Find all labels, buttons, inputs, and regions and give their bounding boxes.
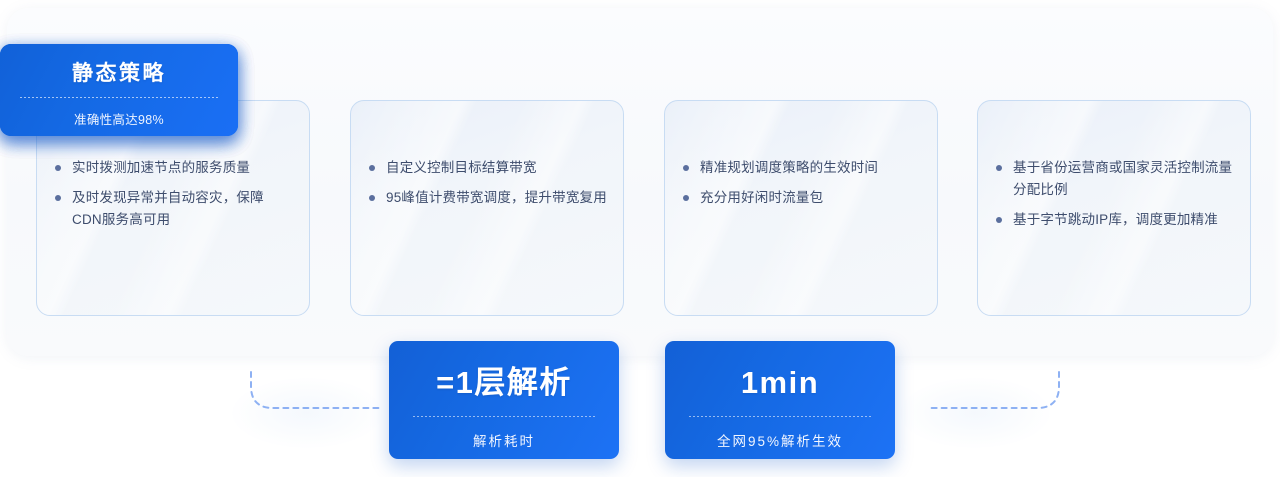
- feature-bullet-list: 精准规划调度策略的生效时间 充分用好闲时流量包: [665, 101, 937, 217]
- metric-badge: 1min 全网95%解析生效: [665, 341, 895, 459]
- bullet-text: 及时发现异常并自动容灾，保障CDN服务高可用: [72, 187, 293, 231]
- bullet-text: 实时拨测加速节点的服务质量: [72, 157, 250, 179]
- bullet-dot-icon: [55, 195, 61, 201]
- bullet-dot-icon: [369, 195, 375, 201]
- list-item: 及时发现异常并自动容灾，保障CDN服务高可用: [55, 187, 293, 231]
- bullet-dot-icon: [996, 217, 1002, 223]
- feature-card: 基于省份运营商或国家灵活控制流量分配比例 基于字节跳动IP库，调度更加精准: [977, 100, 1251, 316]
- bullet-dot-icon: [996, 165, 1002, 171]
- feature-title: 静态策略: [0, 44, 238, 84]
- feature-card: 精准规划调度策略的生效时间 充分用好闲时流量包: [664, 100, 938, 316]
- bullet-dot-icon: [683, 195, 689, 201]
- feature-bullet-list: 自定义控制目标结算带宽 95峰值计费带宽调度，提升带宽复用: [351, 101, 623, 217]
- bullet-text: 基于省份运营商或国家灵活控制流量分配比例: [1013, 157, 1234, 201]
- list-item: 基于省份运营商或国家灵活控制流量分配比例: [996, 157, 1234, 201]
- metric-value: 1min: [665, 341, 895, 398]
- metric-badge-list: =1层解析 解析耗时 1min 全网95%解析生效: [0, 341, 1280, 477]
- dashed-connector-right-icon: [916, 366, 1062, 422]
- list-item: 基于字节跳动IP库，调度更加精准: [996, 209, 1234, 231]
- bullet-text: 95峰值计费带宽调度，提升带宽复用: [386, 187, 607, 209]
- dashed-connector-left-icon: [248, 366, 394, 422]
- feature-subtitle: 准确性高达98%: [0, 98, 238, 128]
- bullet-dot-icon: [369, 165, 375, 171]
- metric-label: 全网95%解析生效: [665, 417, 895, 450]
- bullet-dot-icon: [55, 165, 61, 171]
- bullet-text: 基于字节跳动IP库，调度更加精准: [1013, 209, 1218, 231]
- bullet-dot-icon: [683, 165, 689, 171]
- list-item: 充分用好闲时流量包: [683, 187, 921, 209]
- metric-badge: =1层解析 解析耗时: [389, 341, 619, 459]
- feature-bullet-list: 基于省份运营商或国家灵活控制流量分配比例 基于字节跳动IP库，调度更加精准: [978, 101, 1250, 239]
- page-root: 实时拨测加速节点的服务质量 及时发现异常并自动容灾，保障CDN服务高可用 自定义…: [0, 0, 1280, 477]
- metric-label: 解析耗时: [389, 417, 619, 450]
- list-item: 实时拨测加速节点的服务质量: [55, 157, 293, 179]
- bullet-text: 自定义控制目标结算带宽: [386, 157, 537, 179]
- list-item: 95峰值计费带宽调度，提升带宽复用: [369, 187, 607, 209]
- feature-card: 自定义控制目标结算带宽 95峰值计费带宽调度，提升带宽复用: [350, 100, 624, 316]
- metric-value: =1层解析: [389, 341, 619, 398]
- list-item: 精准规划调度策略的生效时间: [683, 157, 921, 179]
- bullet-text: 精准规划调度策略的生效时间: [700, 157, 878, 179]
- feature-card-header: 静态策略 准确性高达98%: [0, 44, 238, 136]
- list-item: 自定义控制目标结算带宽: [369, 157, 607, 179]
- bullet-text: 充分用好闲时流量包: [700, 187, 823, 209]
